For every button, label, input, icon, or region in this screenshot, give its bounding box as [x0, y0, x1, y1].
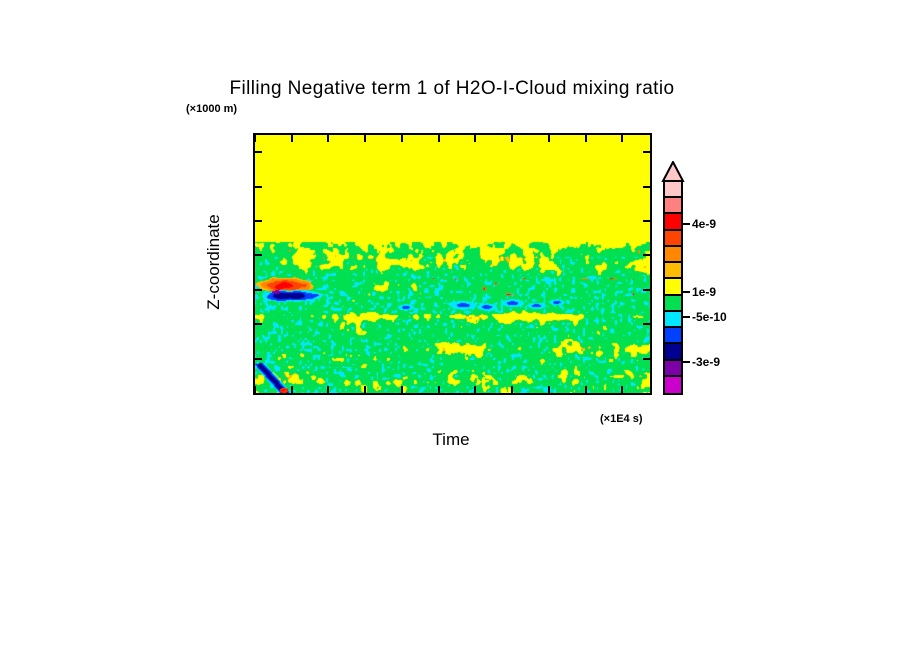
colorbar-segment [665, 377, 681, 393]
y-tick-mark [255, 151, 262, 153]
colorbar-tick-mark [683, 223, 690, 225]
colorbar-segment [665, 231, 681, 247]
heatmap-plot-area[interactable]: 48121620242802468101214161820 [253, 133, 652, 395]
x-tick-mark-top [511, 135, 513, 142]
colorbar-segment [665, 344, 681, 360]
heatmap-field [255, 135, 650, 393]
y-tick-mark-right [643, 358, 650, 360]
figure-canvas: Filling Negative term 1 of H2O-I-Cloud m… [0, 0, 904, 654]
colorbar-tick-label: 1e-9 [692, 285, 716, 299]
y-tick-mark-right [643, 220, 650, 222]
colorbar-segment [665, 312, 681, 328]
x-tick-mark [327, 386, 329, 393]
x-axis-title: Time [432, 430, 469, 450]
y-tick-mark-right [643, 323, 650, 325]
colorbar-segment [665, 214, 681, 230]
y-tick-mark-right [643, 151, 650, 153]
x-tick-mark-top [438, 135, 440, 142]
x-tick-mark [364, 386, 366, 393]
y-tick-mark-right [643, 186, 650, 188]
x-axis-unit-label: (×1E4 s) [600, 413, 643, 425]
x-tick-mark [511, 386, 513, 393]
y-tick-mark [255, 358, 262, 360]
x-tick-mark [548, 386, 550, 393]
colorbar-segment [665, 263, 681, 279]
y-tick-mark [255, 323, 262, 325]
x-tick-mark-top [254, 135, 256, 142]
y-tick-mark [255, 220, 262, 222]
x-tick-mark-top [327, 135, 329, 142]
colorbar-tick-label: -5e-10 [692, 310, 727, 324]
x-tick-mark-top [548, 135, 550, 142]
x-tick-mark [474, 386, 476, 393]
y-axis-title: Z-coordinate [204, 214, 224, 309]
x-tick-mark [291, 386, 293, 393]
colorbar[interactable] [663, 180, 683, 395]
colorbar-extend-arrow [661, 161, 685, 182]
colorbar-segment [665, 247, 681, 263]
x-tick-mark-top [585, 135, 587, 142]
x-tick-mark-top [401, 135, 403, 142]
colorbar-segment [665, 279, 681, 295]
x-tick-mark [254, 386, 256, 393]
x-tick-mark [401, 386, 403, 393]
x-tick-mark [585, 386, 587, 393]
colorbar-tick-label: -3e-9 [692, 355, 720, 369]
y-tick-mark [255, 289, 262, 291]
y-tick-mark-right [643, 254, 650, 256]
colorbar-tick-mark [683, 291, 690, 293]
x-tick-mark-top [474, 135, 476, 142]
colorbar-tick-mark [683, 361, 690, 363]
x-tick-mark [621, 386, 623, 393]
x-tick-mark-top [621, 135, 623, 142]
colorbar-segment [665, 296, 681, 312]
y-tick-mark [255, 254, 262, 256]
colorbar-tick-mark [683, 316, 690, 318]
y-tick-mark-right [643, 289, 650, 291]
colorbar-segment [665, 328, 681, 344]
colorbar-segment [665, 361, 681, 377]
x-tick-mark-top [291, 135, 293, 142]
colorbar-tick-label: 4e-9 [692, 217, 716, 231]
y-tick-mark [255, 186, 262, 188]
colorbar-segment [665, 182, 681, 198]
x-tick-mark [438, 386, 440, 393]
x-tick-mark-top [364, 135, 366, 142]
y-axis-unit-label: (×1000 m) [186, 103, 237, 115]
chart-title: Filling Negative term 1 of H2O-I-Cloud m… [0, 78, 904, 100]
colorbar-segment [665, 198, 681, 214]
